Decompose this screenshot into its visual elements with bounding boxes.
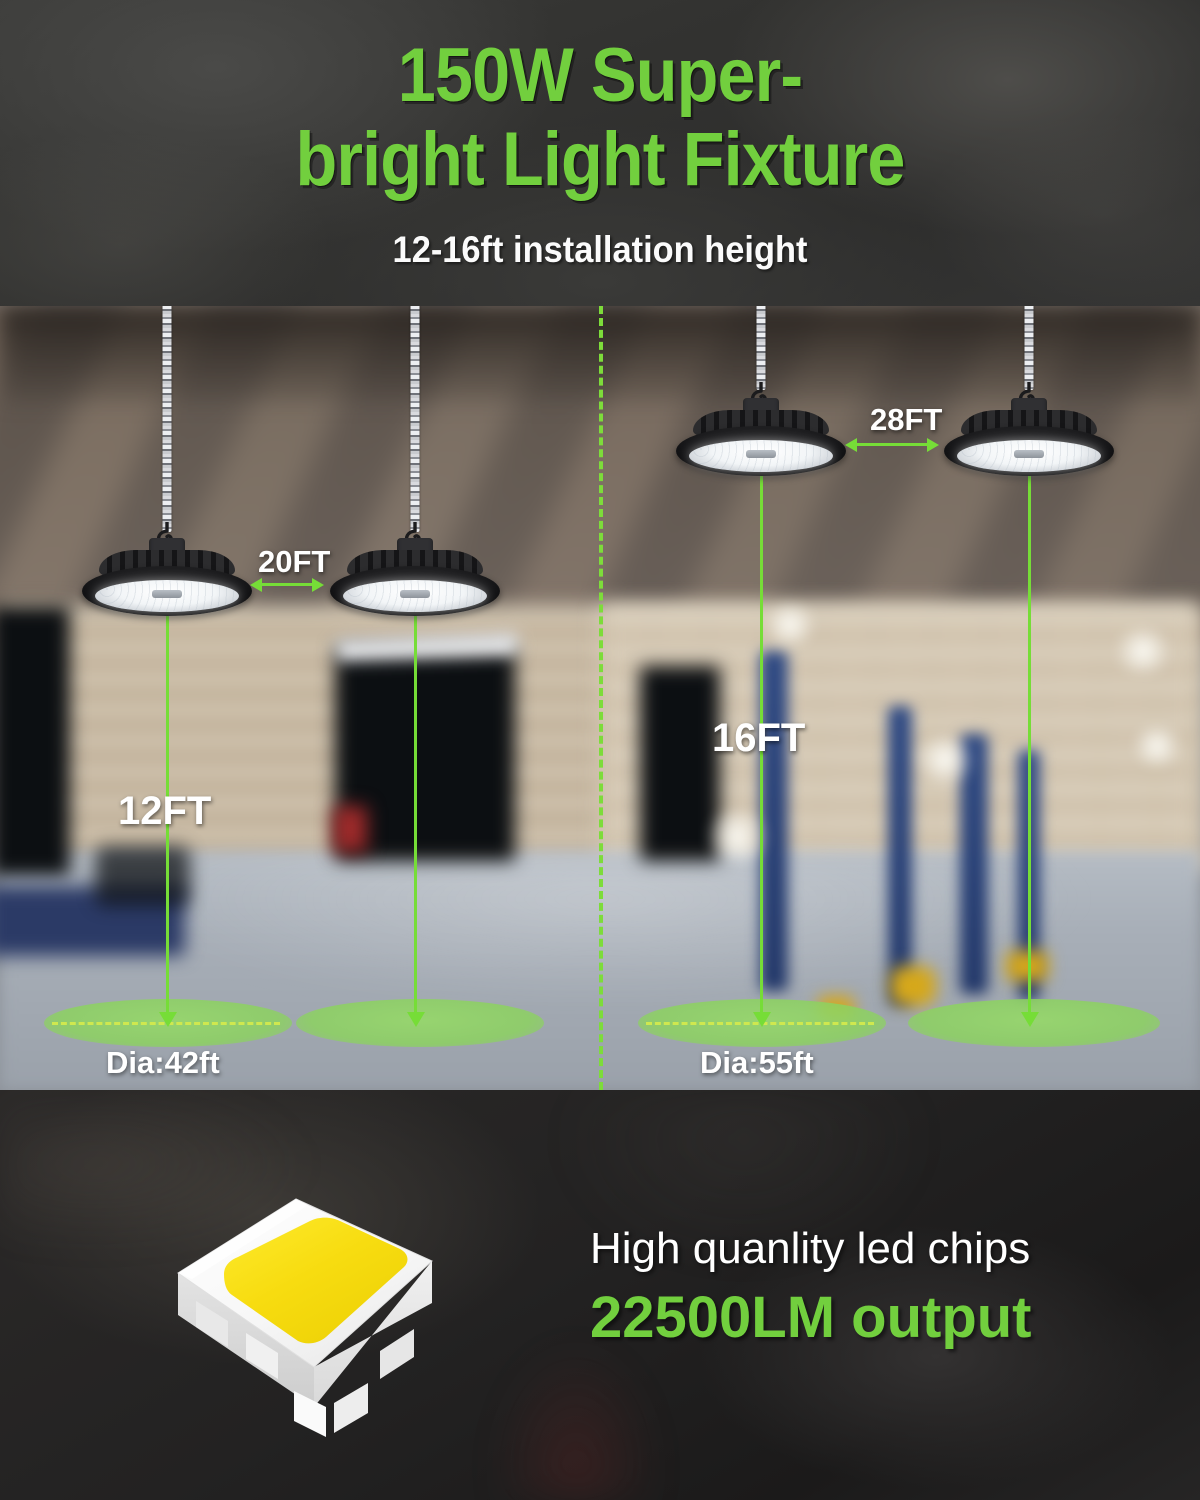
hanging-chain bbox=[1025, 306, 1034, 390]
bg-dark-doorway-1 bbox=[0, 606, 70, 876]
arrow-head-right-icon bbox=[927, 438, 939, 452]
fixture-lens-badge bbox=[400, 590, 430, 598]
spacing-arrow-right bbox=[856, 443, 928, 446]
diameter-label-right: Dia:55ft bbox=[700, 1045, 814, 1081]
header-subtitle: 12-16ft installation height bbox=[42, 228, 1158, 272]
fixture-lens-badge bbox=[152, 590, 182, 598]
height-arrow-right-2 bbox=[1028, 466, 1031, 1014]
bg-light-glow-2 bbox=[910, 736, 980, 784]
product-infographic: 150W Super- bright Light Fixture 12-16ft… bbox=[0, 0, 1200, 1500]
bg-yellow-base-3 bbox=[1006, 951, 1048, 981]
bg-light-glow-3 bbox=[1110, 628, 1176, 674]
led-chip-headline: High quanlity led chips bbox=[590, 1222, 1130, 1276]
scene-divider-dashed-line bbox=[599, 306, 603, 1090]
height-arrow-left-2 bbox=[414, 606, 417, 1014]
hanging-chain bbox=[163, 306, 172, 532]
led-chip-illustration bbox=[118, 1155, 478, 1475]
bg-lift-column-2 bbox=[888, 706, 912, 1006]
title-line-1: 150W Super- bbox=[60, 34, 1140, 118]
height-label-left: 12FT bbox=[118, 789, 211, 834]
fixture-lens-badge bbox=[746, 450, 776, 458]
fixture-lens-badge bbox=[1014, 450, 1044, 458]
bg-yellow-base-1 bbox=[890, 966, 936, 1006]
arrow-head-down-icon bbox=[753, 1012, 771, 1027]
title-line-2: bright Light Fixture bbox=[60, 118, 1140, 202]
led-lumen-output: 22500LM output bbox=[590, 1282, 1130, 1354]
spacing-arrow-left bbox=[261, 583, 313, 586]
spacing-label-left: 20FT bbox=[258, 544, 330, 580]
bg-light-glow-5 bbox=[760, 604, 820, 646]
chip-pad-right-1 bbox=[380, 1329, 414, 1379]
led-chip-text-block: High quanlity led chips 22500LM output bbox=[590, 1222, 1130, 1354]
page-title: 150W Super- bright Light Fixture bbox=[0, 34, 1200, 202]
header-banner: 150W Super- bright Light Fixture 12-16ft… bbox=[0, 0, 1200, 306]
bg-red-object bbox=[333, 806, 367, 852]
arrow-head-left-icon bbox=[845, 438, 857, 452]
spacing-label-right: 28FT bbox=[870, 402, 942, 438]
installation-diagram-photo: 20FT 12FT Dia:42ft bbox=[0, 306, 1200, 1090]
arrow-head-down-icon bbox=[407, 1012, 425, 1027]
bg-equipment bbox=[95, 846, 190, 906]
hanging-chain bbox=[411, 306, 420, 532]
chip-pad-bottom-2 bbox=[334, 1383, 368, 1433]
arrow-head-down-icon bbox=[1021, 1012, 1039, 1027]
bg-light-glow-4 bbox=[1128, 726, 1186, 766]
height-label-right: 16FT bbox=[712, 716, 805, 761]
diameter-label-left: Dia:42ft bbox=[106, 1045, 220, 1081]
arrow-head-down-icon bbox=[159, 1012, 177, 1027]
hanging-chain bbox=[757, 306, 766, 390]
